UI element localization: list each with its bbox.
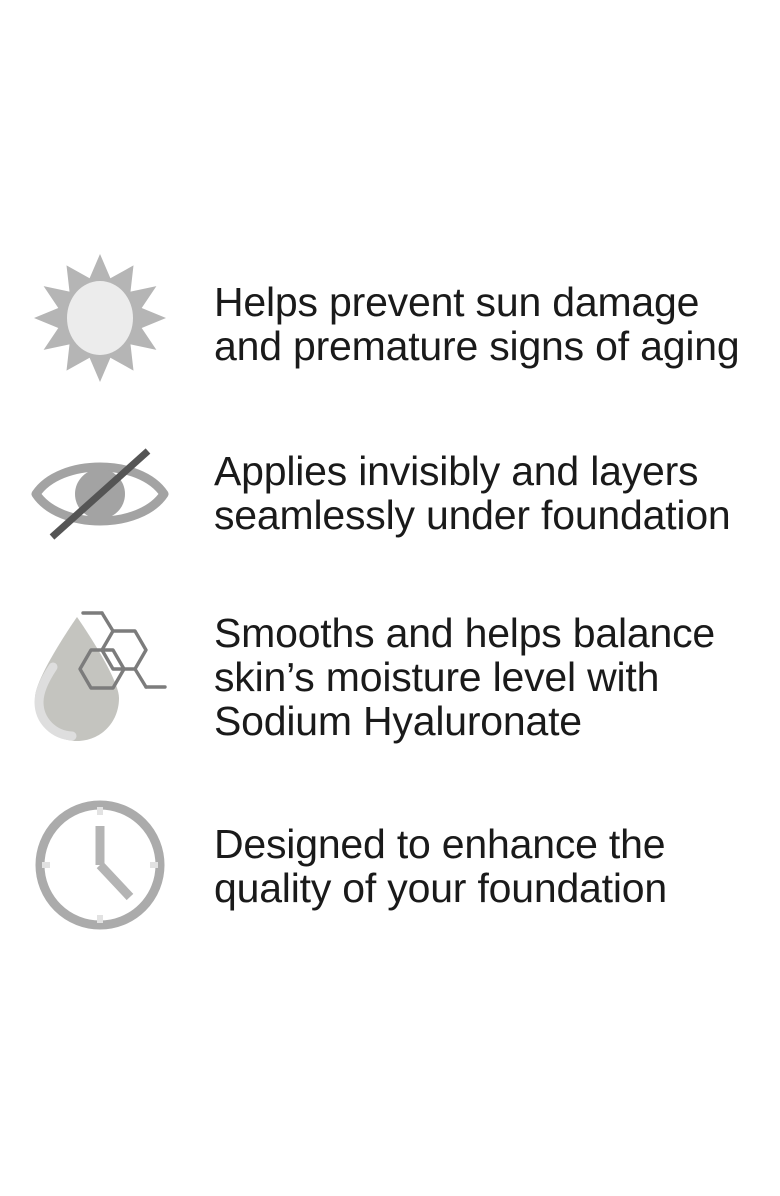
benefits-panel: Helps prevent sun damage and premature s… — [0, 0, 780, 1196]
eye-off-icon — [30, 442, 170, 546]
benefit-icon-slot — [0, 252, 200, 384]
benefit-text: Smooths and helps balance skin’s moistur… — [200, 605, 780, 743]
clock-icon — [33, 798, 167, 932]
benefit-text: Applies invisibly and layers seamlessly … — [200, 442, 780, 537]
benefit-row: Smooths and helps balance skin’s moistur… — [0, 605, 780, 745]
benefit-icon-slot — [0, 798, 200, 932]
benefit-row: Helps prevent sun damage and premature s… — [0, 252, 780, 384]
droplet-molecule-icon — [27, 605, 173, 745]
benefit-icon-slot — [0, 605, 200, 745]
benefit-text: Designed to enhance the quality of your … — [200, 798, 780, 910]
benefit-row: Designed to enhance the quality of your … — [0, 798, 780, 932]
benefit-row: Applies invisibly and layers seamlessly … — [0, 442, 780, 546]
benefit-text: Helps prevent sun damage and premature s… — [200, 252, 780, 368]
benefit-icon-slot — [0, 442, 200, 546]
sun-icon — [34, 252, 166, 384]
